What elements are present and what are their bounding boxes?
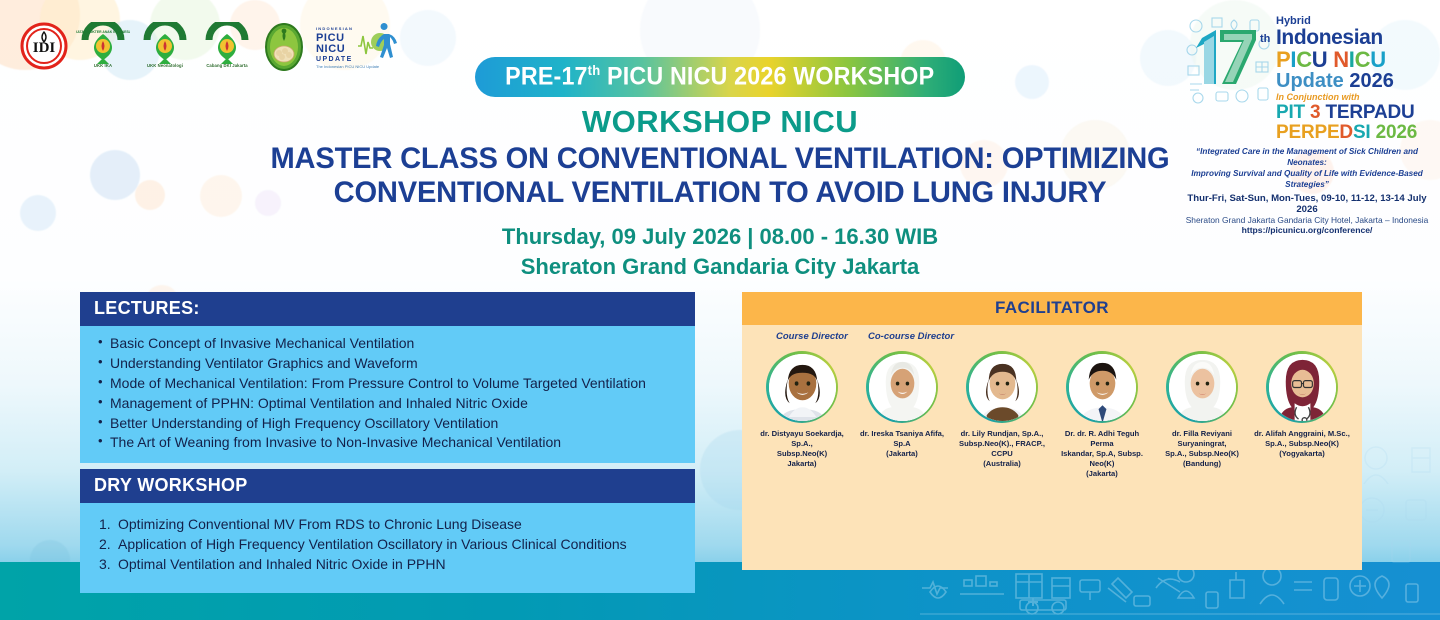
idi-logo: IDI (20, 22, 68, 70)
list-item: Mode of Mechanical Ventilation: From Pre… (96, 374, 679, 394)
facilitator-name: dr. Alifah Anggraini, M.Sc., Sp.A., Subs… (1254, 429, 1350, 459)
idai-jakarta-caption: Cabang DKI Jakarta (200, 63, 254, 68)
avatar (866, 351, 938, 423)
update-year-label: Update 2026 (1276, 71, 1432, 92)
facilitator-card: Dr. dr. R. Adhi Teguh Perma Iskandar, Sp… (1054, 351, 1150, 479)
page-title: MASTER CLASS ON CONVENTIONAL VENTILATION… (0, 142, 1440, 209)
avatar (1166, 351, 1238, 423)
facilitator-name: dr. Ireska Tsaniya Afifa, Sp.A (Jakarta) (854, 429, 950, 459)
facilitator-card: dr. Filla Reviyani Suryaningrat, Sp.A., … (1154, 351, 1250, 479)
list-item: Application of High Frequency Ventilatio… (96, 535, 679, 555)
facilitator-name: dr. Lily Rundjan, Sp.A., Subsp.Neo(K)., … (954, 429, 1050, 469)
workshop-subtitle: WORKSHOP NICU (0, 104, 1440, 140)
left-panels: LECTURES: Basic Concept of Invasive Mech… (80, 292, 695, 593)
list-item: Better Understanding of High Frequency O… (96, 414, 679, 434)
facilitator-name: Dr. dr. R. Adhi Teguh Perma Iskandar, Sp… (1054, 429, 1150, 479)
idai-neonatology-logo: UKK Neonatologi (138, 22, 192, 74)
header-logo-row: IDI IKATAN DOKTER ANAK INDONESIA UKK IKA (20, 22, 400, 74)
lectures-list: Basic Concept of Invasive Mechanical Ven… (96, 334, 679, 453)
avatar (766, 351, 838, 423)
event-datetime-venue: Thursday, 09 July 2026 | 08.00 - 16.30 W… (0, 222, 1440, 281)
update-word: Update (1276, 70, 1344, 92)
picu-logo-line1: INDONESIAN (316, 26, 353, 31)
year-2026: 2026 (1349, 70, 1394, 92)
picu-nicu-update-logo: INDONESIAN PICU NICU UPDATE The Indonesi… (314, 22, 400, 70)
lectures-body: Basic Concept of Invasive Mechanical Ven… (80, 326, 695, 463)
avatar (1066, 351, 1138, 423)
dry-workshop-heading: DRY WORKSHOP (80, 469, 695, 503)
role-course-director: Course Director (776, 331, 848, 342)
facilitator-grid: dr. Distyayu Soekardja, Sp.A., Subsp.Neo… (742, 349, 1362, 479)
title-line-2: CONVENTIONAL VENTILATION TO AVOID LUNG I… (22, 176, 1419, 210)
facilitator-panel: FACILITATOR Course Director Co-course Di… (742, 292, 1362, 570)
title-line-1: MASTER CLASS ON CONVENTIONAL VENTILATION… (22, 142, 1419, 176)
facilitator-card: dr. Distyayu Soekardja, Sp.A., Subsp.Neo… (754, 351, 850, 479)
dry-workshop-list: Optimizing Conventional MV From RDS to C… (96, 515, 679, 575)
pill-text: PRE-17th PICU NICU 2026 WORKSHOP (505, 62, 934, 91)
facilitator-card: dr. Ireska Tsaniya Afifa, Sp.A (Jakarta) (854, 351, 950, 479)
avatar (966, 351, 1038, 423)
pre-workshop-pill: PRE-17th PICU NICU 2026 WORKSHOP (475, 57, 965, 97)
facilitator-card: dr. Alifah Anggraini, M.Sc., Sp.A., Subs… (1254, 351, 1350, 479)
list-item: Basic Concept of Invasive Mechanical Ven… (96, 334, 679, 354)
seventeenth-edition-logo: th (1182, 12, 1274, 104)
idai-ika-logo: IKATAN DOKTER ANAK INDONESIA UKK IKA (76, 22, 130, 74)
conference-poster: IDI IKATAN DOKTER ANAK INDONESIA UKK IKA (0, 0, 1440, 620)
event-date: Thursday, 09 July 2026 | 08.00 - 16.30 W… (0, 222, 1440, 252)
list-item: The Art of Weaning from Invasive to Non-… (96, 433, 679, 453)
idai-neonatology-caption: UKK Neonatologi (138, 63, 192, 68)
facilitator-name: dr. Filla Reviyani Suryaningrat, Sp.A., … (1154, 429, 1250, 469)
idai-jakarta-logo: Cabang DKI Jakarta (200, 22, 254, 74)
list-item: Management of PPHN: Optimal Ventilation … (96, 394, 679, 414)
perpedsi-logo (262, 22, 306, 72)
facilitator-card: dr. Lily Rundjan, Sp.A., Subsp.Neo(K)., … (954, 351, 1050, 479)
idai-ika-caption: UKK IKA (76, 63, 130, 68)
svg-text:IKATAN DOKTER ANAK INDONESIA: IKATAN DOKTER ANAK INDONESIA (76, 30, 130, 34)
ordinal-th: th (1260, 33, 1271, 45)
role-cocourse-director: Co-course Director (868, 331, 954, 342)
facilitator-heading: FACILITATOR (742, 292, 1362, 325)
list-item: Understanding Ventilator Graphics and Wa… (96, 354, 679, 374)
picu-nicu-label: PICU NICU (1276, 49, 1432, 71)
list-item: Optimizing Conventional MV From RDS to C… (96, 515, 679, 535)
lectures-heading: LECTURES: (80, 292, 695, 326)
svg-text:NICU: NICU (316, 43, 345, 55)
facilitator-roles: Course Director Co-course Director (742, 331, 1362, 349)
event-venue: Sheraton Grand Gandaria City Jakarta (0, 252, 1440, 282)
indonesian-label: Indonesian (1276, 27, 1432, 49)
dry-workshop-body: Optimizing Conventional MV From RDS to C… (80, 503, 695, 593)
list-item: Optimal Ventilation and Inhaled Nitric O… (96, 555, 679, 575)
facilitator-name: dr. Distyayu Soekardja, Sp.A., Subsp.Neo… (754, 429, 850, 469)
svg-text:The Indonesian PICU NICU Updat: The Indonesian PICU NICU Update (316, 64, 380, 69)
avatar (1266, 351, 1338, 423)
svg-text:UPDATE: UPDATE (316, 56, 353, 63)
